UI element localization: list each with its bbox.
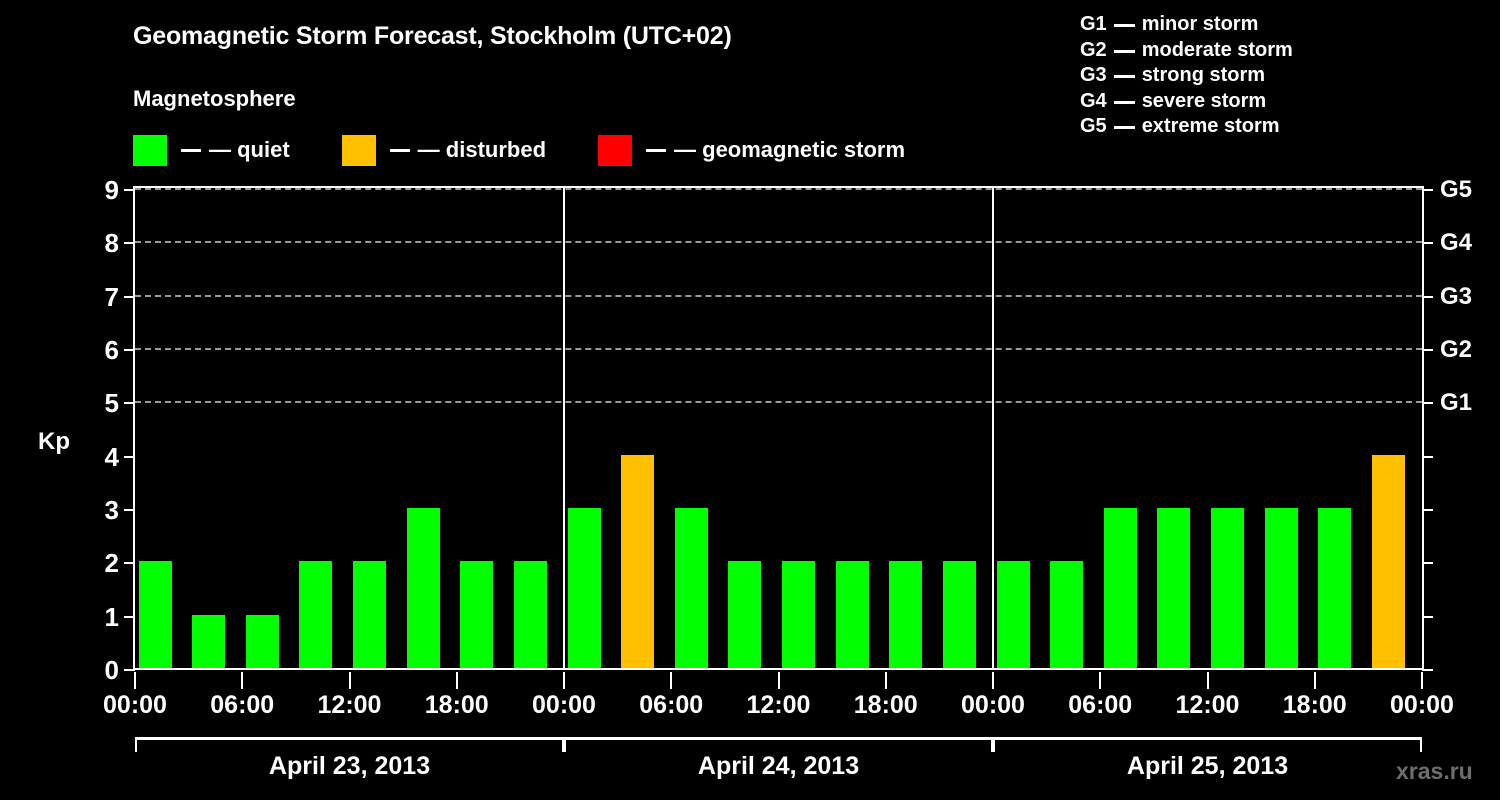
y-tick [124, 242, 135, 244]
right-tick [1422, 296, 1433, 298]
gscale-row-g5: G5extreme storm [0, 114, 1080, 140]
y-tick-label: 4 [105, 444, 119, 470]
y-tick-label: 6 [105, 337, 119, 363]
bar [1050, 561, 1083, 668]
x-tick-label: 00:00 [961, 691, 1025, 720]
x-tick [134, 672, 136, 689]
y-tick-label: 5 [105, 390, 119, 416]
x-tick [1314, 672, 1316, 689]
chart-canvas [135, 188, 1422, 668]
right-tick [1422, 402, 1433, 404]
y-tick-label: 0 [105, 657, 119, 683]
y-tick-label: 2 [105, 550, 119, 576]
y-tick [124, 616, 135, 618]
x-tick [1207, 672, 1209, 689]
bar [782, 561, 815, 668]
x-tick-label: 00:00 [1390, 691, 1454, 720]
x-tick-label: 06:00 [639, 691, 703, 720]
bar [514, 561, 547, 668]
right-tick [1422, 669, 1433, 671]
gridline-kp-8 [135, 241, 1422, 243]
gscale-dash [1114, 101, 1135, 104]
bar [568, 508, 601, 668]
bar [943, 561, 976, 668]
chart-plot-area: 0123456789G1G2G3G4G5 [133, 186, 1424, 670]
right-tick-label-g5: G5 [1440, 178, 1472, 202]
gscale-code: G4 [1080, 89, 1107, 115]
bar [728, 561, 761, 668]
x-tick-label: 00:00 [103, 691, 167, 720]
y-axis-title: Kp [38, 428, 70, 456]
x-tick-label: 12:00 [1176, 691, 1240, 720]
gscale-text: strong storm [1142, 64, 1265, 86]
x-tick [456, 672, 458, 689]
right-tick [1422, 349, 1433, 351]
right-tick-label-g1: G1 [1440, 391, 1472, 415]
bar [299, 561, 332, 668]
bar [997, 561, 1030, 668]
x-tick [885, 672, 887, 689]
gridline-kp-9 [135, 188, 1422, 190]
bar [1157, 508, 1190, 668]
bar [889, 561, 922, 668]
x-tick [992, 672, 994, 689]
bar [353, 561, 386, 668]
gscale-text: extreme storm [1142, 115, 1280, 137]
x-tick [1421, 672, 1423, 689]
right-tick-label-g4: G4 [1440, 231, 1472, 255]
gscale-text: severe storm [1142, 90, 1267, 112]
right-tick [1422, 456, 1433, 458]
watermark: xras.ru [1396, 758, 1473, 785]
y-tick [124, 349, 135, 351]
date-bracket [135, 737, 564, 752]
y-tick-label: 3 [105, 497, 119, 523]
date-bracket [993, 737, 1422, 752]
x-tick [563, 672, 565, 689]
x-tick-label: 06:00 [210, 691, 274, 720]
gscale-code: G5 [1080, 114, 1107, 140]
x-tick-label: 00:00 [532, 691, 596, 720]
bar [246, 615, 279, 668]
x-tick-label: 18:00 [1283, 691, 1347, 720]
x-tick-label: 18:00 [854, 691, 918, 720]
gscale-dash [1114, 50, 1135, 53]
right-tick-label-g3: G3 [1440, 285, 1472, 309]
bar [139, 561, 172, 668]
y-tick-label: 7 [105, 284, 119, 310]
bar [407, 508, 440, 668]
day-separator [563, 188, 565, 668]
bar [836, 561, 869, 668]
x-tick [1099, 672, 1101, 689]
x-tick-label: 06:00 [1068, 691, 1132, 720]
legend-dash [390, 149, 410, 152]
bar [675, 508, 708, 668]
y-tick [124, 456, 135, 458]
gscale-code: G2 [1080, 38, 1107, 64]
right-tick [1422, 616, 1433, 618]
legend-dash [646, 149, 666, 152]
bar [621, 455, 654, 668]
y-tick [124, 509, 135, 511]
x-tick [670, 672, 672, 689]
bar [1211, 508, 1244, 668]
date-label: April 25, 2013 [1127, 752, 1288, 781]
bar [192, 615, 225, 668]
right-tick [1422, 189, 1433, 191]
x-tick-label: 12:00 [747, 691, 811, 720]
bar [1104, 508, 1137, 668]
right-tick [1422, 562, 1433, 564]
y-tick-label: 1 [105, 604, 119, 630]
y-tick [124, 189, 135, 191]
legend-label-storm: — geomagnetic storm [674, 137, 905, 163]
x-tick [349, 672, 351, 689]
y-tick-label: 9 [105, 177, 119, 203]
gscale-text: moderate storm [1142, 39, 1293, 61]
bar [1265, 508, 1298, 668]
gscale-dash [1114, 75, 1135, 78]
gscale-legend: G1minor stormG2moderate stormG3strong st… [0, 12, 420, 140]
gscale-row-g4: G4severe storm [0, 89, 1080, 115]
x-tick-label: 12:00 [318, 691, 382, 720]
date-bracket [564, 737, 993, 752]
right-tick [1422, 242, 1433, 244]
legend-label-quiet: — quiet [209, 137, 290, 163]
y-tick [124, 669, 135, 671]
x-tick [241, 672, 243, 689]
y-tick [124, 562, 135, 564]
gscale-text: minor storm [1142, 13, 1259, 35]
right-tick [1422, 509, 1433, 511]
gscale-code: G3 [1080, 63, 1107, 89]
day-separator [992, 188, 994, 668]
x-tick-label: 18:00 [425, 691, 489, 720]
x-tick [778, 672, 780, 689]
gscale-row-g1: G1minor storm [0, 12, 1080, 38]
gscale-code: G1 [1080, 12, 1107, 38]
gscale-dash [1114, 24, 1135, 27]
y-tick [124, 296, 135, 298]
date-label: April 23, 2013 [269, 752, 430, 781]
date-label: April 24, 2013 [698, 752, 859, 781]
y-tick-label: 8 [105, 230, 119, 256]
gridline-kp-7 [135, 295, 1422, 297]
gridline-kp-6 [135, 348, 1422, 350]
gridline-kp-5 [135, 401, 1422, 403]
right-tick-label-g2: G2 [1440, 338, 1472, 362]
gscale-row-g2: G2moderate storm [0, 38, 1080, 64]
bar [460, 561, 493, 668]
legend-label-disturbed: — disturbed [418, 137, 546, 163]
gscale-row-g3: G3strong storm [0, 63, 1080, 89]
bar [1318, 508, 1351, 668]
gscale-dash [1114, 126, 1135, 129]
y-tick [124, 402, 135, 404]
bar [1372, 455, 1405, 668]
legend-dash [181, 149, 201, 152]
